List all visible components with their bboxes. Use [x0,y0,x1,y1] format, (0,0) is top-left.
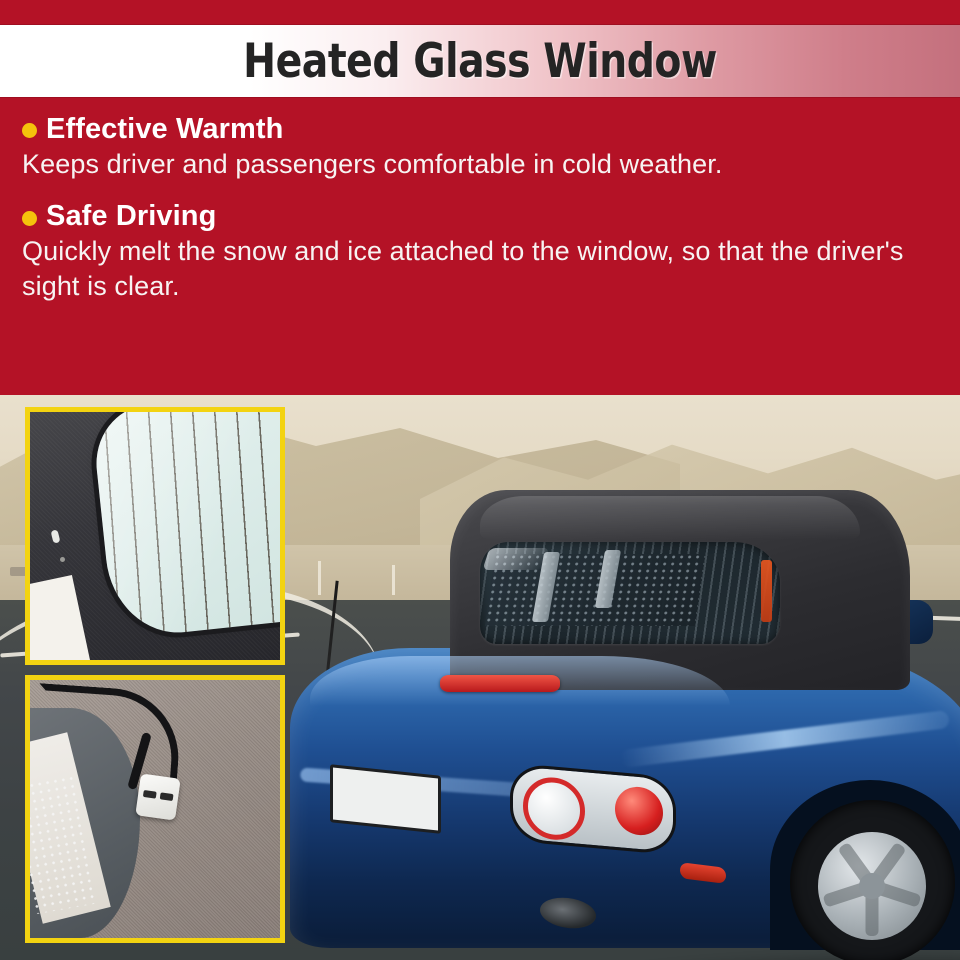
feature-heading-row: Safe Driving [22,201,938,233]
heated-glass-panel [91,407,285,639]
glass-brake-reflection [761,560,772,622]
page-title: Heated Glass Window [34,25,927,97]
product-photo [0,395,960,960]
feature-description: Quickly melt the snow and ice attached t… [22,234,938,303]
heated-rear-glass-window [480,542,780,644]
tail-light-ring [523,775,585,842]
soft-top-highlight [480,496,860,540]
third-brake-light [440,675,560,692]
bullet-dot-icon [22,123,37,138]
product-feature-image: Heated Glass Window Effective Warmth Kee… [0,0,960,960]
wheel-hub [859,873,885,899]
header-banner: Heated Glass Window [0,0,960,100]
bullet-dot-icon [22,211,37,226]
tail-light [510,763,676,856]
feature-item-safe-driving: Safe Driving Quickly melt the snow and i… [22,201,938,303]
feature-description: Keeps driver and passengers comfortable … [22,147,938,182]
inset-wiring-connector-closeup [25,675,285,943]
alloy-wheel-rim [818,832,926,940]
convertible-car [290,480,960,950]
tail-light-lens [615,785,663,837]
fastener-dot [60,557,65,562]
electrical-connector [135,773,180,820]
feature-heading-row: Effective Warmth [22,114,938,146]
glass-highlight [482,548,549,570]
glass-sheen [91,407,285,639]
feature-item-effective-warmth: Effective Warmth Keeps driver and passen… [22,114,938,181]
feature-title: Effective Warmth [46,114,283,146]
feature-list: Effective Warmth Keeps driver and passen… [0,100,960,395]
license-plate [330,764,441,834]
connector-pin [160,792,174,801]
inset-heated-glass-window-closeup [25,407,285,665]
feature-title: Safe Driving [46,201,216,233]
connector-pin [143,790,157,799]
